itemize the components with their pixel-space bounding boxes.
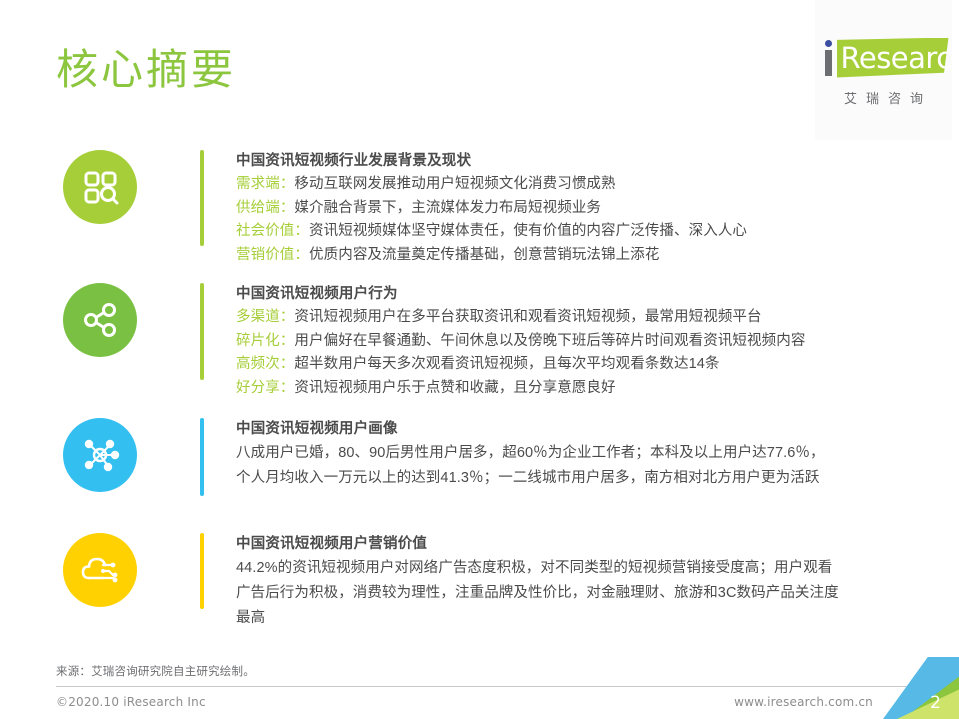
- block-line: 碎片化：用户偏好在早餐通勤、午间休息以及傍晚下班后等碎片时间观看资讯短视频内容: [236, 330, 959, 354]
- slide-root: 核心摘要 Research 艾瑞咨询: [0, 0, 959, 719]
- source-note: 来源：艾瑞咨询研究院自主研究绘制。: [56, 663, 255, 679]
- line-separator: ：: [294, 247, 309, 263]
- summary-block-marketing: 中国资讯短视频用户营销价值 44.2%的资讯短视频用户对网络广告态度积极，对不同…: [0, 533, 959, 643]
- icon-column: [0, 533, 200, 607]
- block-text: 中国资讯短视频行业发展背景及现状 需求端：移动互联网发展推动用户短视频文化消费习…: [204, 150, 959, 267]
- website-url: www.iresearch.com.cn: [734, 695, 873, 709]
- icon-column: [0, 418, 200, 492]
- block-line: 营销价值：优质内容及流量奠定传播基础，创意营销玩法锦上添花: [236, 244, 959, 268]
- block-paragraph: 44.2%的资讯短视频用户对网络广告态度积极，对不同类型的短视频营销接受度高；用…: [236, 556, 846, 631]
- line-text: 资讯短视频用户乐于点赞和收藏，且分享意愿良好: [294, 380, 615, 396]
- footer-divider: [56, 686, 918, 687]
- line-label: 多渠道: [236, 309, 280, 325]
- summary-block-industry: 中国资讯短视频行业发展背景及现状 需求端：移动互联网发展推动用户短视频文化消费习…: [0, 150, 959, 283]
- block-heading: 中国资讯短视频行业发展背景及现状: [236, 150, 959, 173]
- line-text: 媒介融合背景下，主流媒体发力布局短视频业务: [294, 200, 601, 216]
- block-line: 高频次：超半数用户每天多次观看资讯短视频，且每次平均观看条数达14条: [236, 353, 959, 377]
- icon-column: [0, 150, 200, 224]
- corner-decoration: [879, 657, 959, 719]
- page-title: 核心摘要: [56, 38, 236, 102]
- line-separator: ：: [280, 176, 295, 192]
- summary-blocks: 中国资讯短视频行业发展背景及现状 需求端：移动互联网发展推动用户短视频文化消费习…: [0, 150, 959, 643]
- line-text: 用户偏好在早餐通勤、午间休息以及傍晚下班后等碎片时间观看资讯短视频内容: [294, 333, 805, 349]
- share-nodes-icon: [63, 283, 137, 357]
- line-text: 优质内容及流量奠定传播基础，创意营销玩法锦上添花: [309, 247, 659, 263]
- logo-subtitle: 艾瑞咨询: [835, 88, 932, 107]
- line-separator: ：: [280, 356, 295, 372]
- summary-block-behavior: 中国资讯短视频用户行为 多渠道：资讯短视频用户在多平台获取资讯和观看资讯短视频，…: [0, 283, 959, 418]
- block-heading: 中国资讯短视频用户营销价值: [236, 533, 959, 556]
- line-label: 好分享: [236, 380, 280, 396]
- block-text: 中国资讯短视频用户画像 八成用户已婚，80、90后男性用户居多，超60％为企业工…: [204, 418, 959, 491]
- block-line: 供给端：媒介融合背景下，主流媒体发力布局短视频业务: [236, 197, 959, 221]
- line-label: 需求端: [236, 176, 280, 192]
- logo-mark: Research: [819, 34, 949, 82]
- line-separator: ：: [294, 223, 309, 239]
- line-label: 高频次: [236, 356, 280, 372]
- block-line: 需求端：移动互联网发展推动用户短视频文化消费习惯成熟: [236, 173, 959, 197]
- line-separator: ：: [280, 380, 295, 396]
- block-line: 好分享：资讯短视频用户乐于点赞和收藏，且分享意愿良好: [236, 377, 959, 401]
- network-hub-icon: [63, 418, 137, 492]
- line-label: 供给端: [236, 200, 280, 216]
- line-text: 资讯短视频媒体坚守媒体责任，使有价值的内容广泛传播、深入人心: [309, 223, 747, 239]
- logo-i-dot: [825, 40, 832, 47]
- cloud-circuit-icon: [63, 533, 137, 607]
- line-text: 资讯短视频用户在多平台获取资讯和观看资讯短视频，最常用短视频平台: [294, 309, 761, 325]
- block-text: 中国资讯短视频用户行为 多渠道：资讯短视频用户在多平台获取资讯和观看资讯短视频，…: [204, 283, 959, 400]
- line-separator: ：: [280, 200, 295, 216]
- block-line: 社会价值：资讯短视频媒体坚守媒体责任，使有价值的内容广泛传播、深入人心: [236, 220, 959, 244]
- line-label: 社会价值: [236, 223, 294, 239]
- grid-search-icon: [63, 150, 137, 224]
- block-text: 中国资讯短视频用户营销价值 44.2%的资讯短视频用户对网络广告态度积极，对不同…: [204, 533, 959, 631]
- summary-block-profile: 中国资讯短视频用户画像 八成用户已婚，80、90后男性用户居多，超60％为企业工…: [0, 418, 959, 533]
- line-separator: ：: [280, 333, 295, 349]
- logo-i-stem: [825, 50, 832, 76]
- line-text: 移动互联网发展推动用户短视频文化消费习惯成熟: [294, 176, 615, 192]
- copyright-text: ©2020.10 iResearch Inc: [56, 695, 206, 709]
- line-text: 超半数用户每天多次观看资讯短视频，且每次平均观看条数达14条: [294, 356, 719, 372]
- page-number: 2: [930, 693, 941, 713]
- line-label: 营销价值: [236, 247, 294, 263]
- icon-column: [0, 283, 200, 357]
- block-line: 多渠道：资讯短视频用户在多平台获取资讯和观看资讯短视频，最常用短视频平台: [236, 306, 959, 330]
- logo-wordmark: Research: [841, 39, 959, 77]
- iresearch-logo: Research 艾瑞咨询: [815, 0, 952, 140]
- block-heading: 中国资讯短视频用户行为: [236, 283, 959, 306]
- line-separator: ：: [280, 309, 295, 325]
- line-label: 碎片化: [236, 333, 280, 349]
- block-paragraph: 八成用户已婚，80、90后男性用户居多，超60％为企业工作者；本科及以上用户达7…: [236, 441, 831, 491]
- block-heading: 中国资讯短视频用户画像: [236, 418, 959, 441]
